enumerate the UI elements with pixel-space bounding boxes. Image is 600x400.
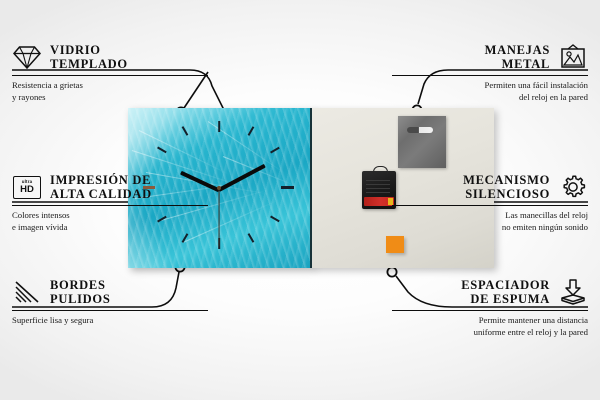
clock-tick [270,147,279,153]
feature-metal-hangers: MANEJAS METAL Permiten una fácil instala… [392,42,588,103]
feature-divider [392,205,588,206]
feature-divider [392,310,588,311]
feature-description: Permiten una fácil instalación del reloj… [392,80,588,102]
feature-header: ultra HD IMPRESIÓN DE ALTA CALIDAD [12,172,208,202]
picture-frame-hanger-icon [558,42,588,72]
feature-header: MANEJAS METAL [392,42,588,72]
feature-title: ESPACIADOR DE ESPUMA [461,278,550,306]
metal-hanger-plate [398,116,446,168]
feature-tempered-glass: VIDRIO TEMPLADO Resistencia a grietas y … [12,42,208,103]
feature-title: BORDES PULIDOS [50,278,110,306]
clock-tick [248,126,254,135]
feature-header: MECANISMO SILENCIOSO [392,172,588,202]
clock-minute-hand [218,164,266,192]
arrow-press-pad-icon [558,277,588,307]
feature-polished-edges: BORDES PULIDOS Superficie lisa y segura [12,277,208,327]
feature-title: MANEJAS METAL [485,43,550,71]
feature-title: MECANISMO SILENCIOSO [463,173,550,201]
mechanism-hook [373,166,388,174]
clock-tick [157,147,166,153]
feature-divider [12,205,208,206]
clock-second-hand [218,189,219,247]
clock-mechanism [362,171,396,209]
clock-tick [218,121,220,132]
ultra-hd-icon-main-text: HD [20,185,34,195]
feature-title: IMPRESIÓN DE ALTA CALIDAD [50,173,152,201]
foam-spacer-square [386,236,404,253]
diamond-icon [12,42,42,72]
gear-icon [558,172,588,202]
ultra-hd-icon: ultra HD [12,172,42,202]
feature-header: VIDRIO TEMPLADO [12,42,208,72]
feature-description: Las manecillas del reloj no emiten ningú… [392,210,588,232]
polished-edge-icon [12,277,42,307]
connector-endpoint-foam-spacer [387,267,396,276]
hanger-slot [407,127,433,133]
clock-tick [182,126,188,135]
feature-description: Superficie lisa y segura [12,315,208,326]
feature-description: Colores intensos e imagen vívida [12,210,208,232]
feature-description: Permite mantener una distancia uniforme … [392,315,588,337]
feature-divider [12,75,208,76]
clock-center-cap [217,186,221,190]
feature-divider [12,310,208,311]
clock-tick [248,233,254,242]
mechanism-battery [364,197,394,206]
product-infographic: VIDRIO TEMPLADO Resistencia a grietas y … [0,0,600,400]
feature-foam-spacer: ESPACIADOR DE ESPUMA Permite mantener un… [392,277,588,338]
feature-title: VIDRIO TEMPLADO [50,43,128,71]
feature-divider [392,75,588,76]
feature-header: ESPACIADOR DE ESPUMA [392,277,588,307]
clock-tick [281,186,294,188]
feature-hd-print: ultra HD IMPRESIÓN DE ALTA CALIDAD Color… [12,172,208,233]
clock-tick [270,215,279,221]
feature-header: BORDES PULIDOS [12,277,208,307]
feature-description: Resistencia a grietas y rayones [12,80,208,102]
feature-silent-mechanism: MECANISMO SILENCIOSO Las manecillas del … [392,172,588,233]
